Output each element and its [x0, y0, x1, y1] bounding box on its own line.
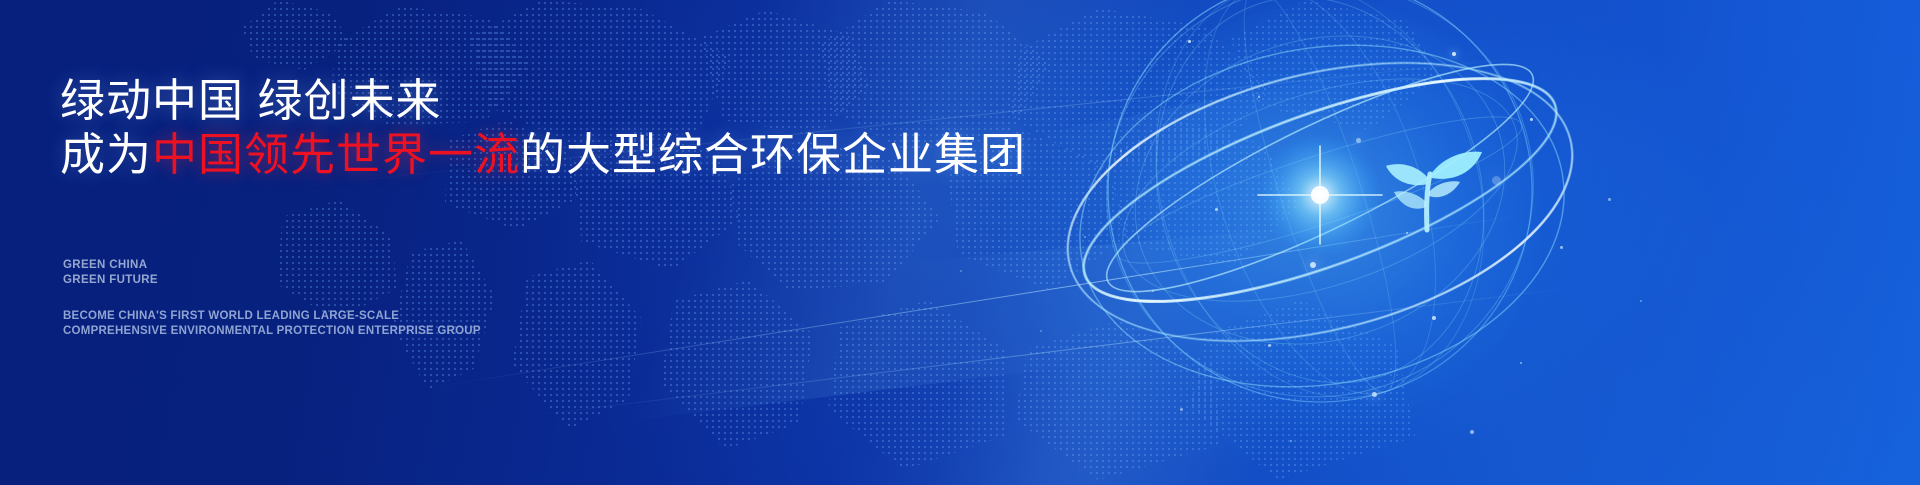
- tagline-block: GREEN CHINA GREEN FUTURE: [63, 258, 158, 288]
- headline-secondary: 成为中国领先世界一流的大型综合环保企业集团: [60, 132, 1026, 177]
- subcopy-line-1: BECOME CHINA'S FIRST WORLD LEADING LARGE…: [63, 309, 481, 324]
- headline-secondary-highlight: 中国领先世界一流: [152, 129, 520, 180]
- subcopy-block: BECOME CHINA'S FIRST WORLD LEADING LARGE…: [63, 309, 481, 339]
- headline-secondary-prefix: 成为: [60, 129, 152, 180]
- sprout-icon: [1370, 130, 1488, 234]
- headline-secondary-suffix: 的大型综合环保企业集团: [520, 129, 1026, 180]
- tagline-line-1: GREEN CHINA: [63, 258, 158, 273]
- subcopy-line-2: COMPREHENSIVE ENVIRONMENTAL PROTECTION E…: [63, 324, 481, 339]
- hero-banner: 绿动中国 绿创未来 成为中国领先世界一流的大型综合环保企业集团 GREEN CH…: [0, 0, 1920, 485]
- wireframe-globe: [1040, 0, 1600, 485]
- headline-primary: 绿动中国 绿创未来: [60, 78, 442, 123]
- globe-glow: [1100, 0, 1540, 440]
- globe-svg: [1040, 0, 1600, 485]
- tagline-line-2: GREEN FUTURE: [63, 273, 158, 288]
- banner-copy: 绿动中国 绿创未来 成为中国领先世界一流的大型综合环保企业集团 GREEN CH…: [60, 0, 1060, 485]
